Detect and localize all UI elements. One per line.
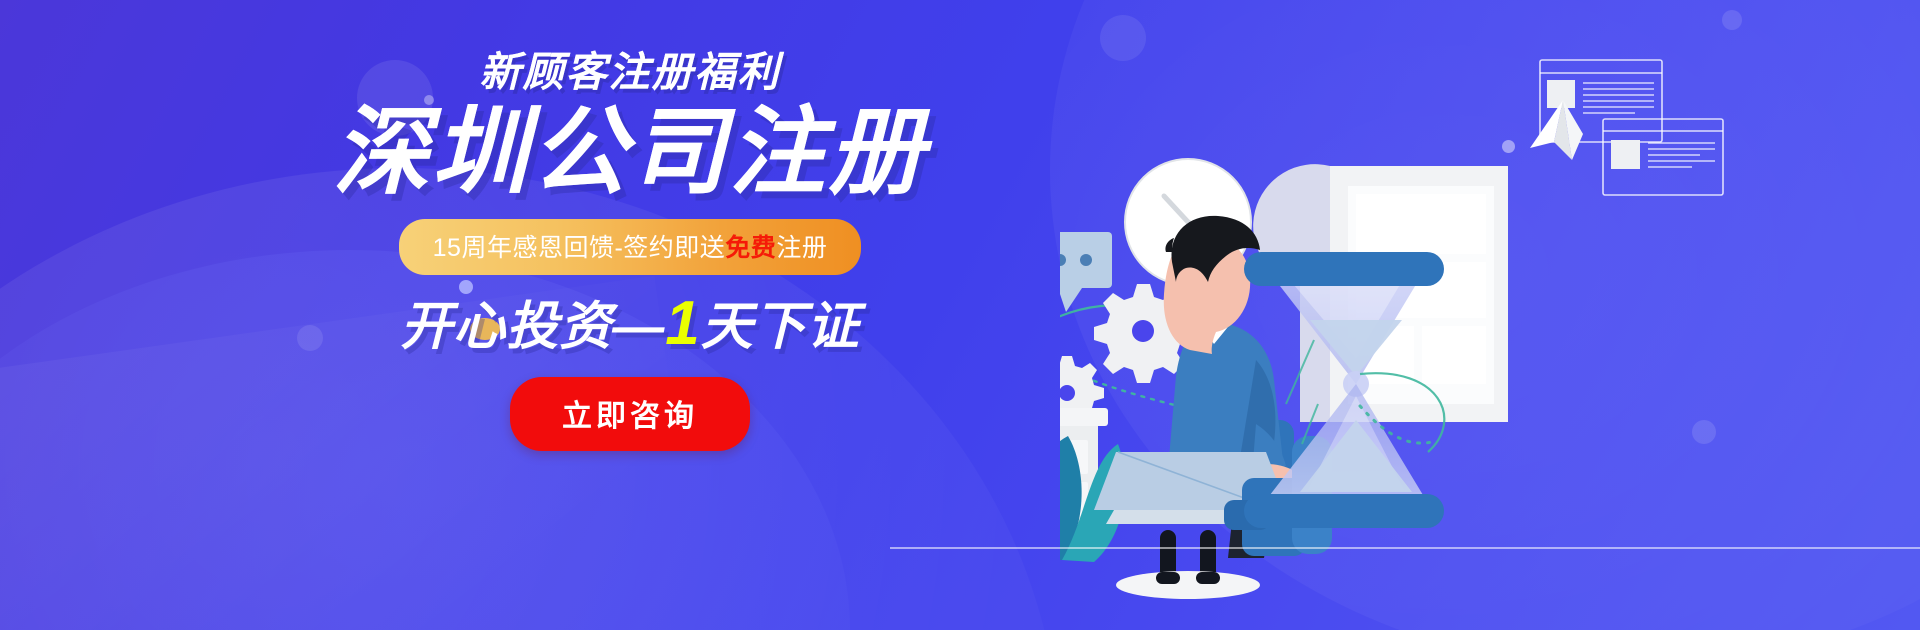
illustration [1060, 0, 1920, 630]
eyebrow-text: 新顾客注册福利 [300, 52, 960, 93]
page-title: 深圳公司注册 [300, 103, 960, 203]
document-thumb [1611, 140, 1640, 169]
promo-pill-prefix: 15周年感恩回馈-签约即送 [433, 234, 726, 262]
promo-banner: 新顾客注册福利 深圳公司注册 15周年感恩回馈-签约即送免费注册 开心投资—1天… [0, 0, 1920, 630]
tagline: 开心投资—1天下证 [300, 293, 960, 355]
copy-block: 新顾客注册福利 深圳公司注册 15周年感恩回馈-签约即送免费注册 开心投资—1天… [300, 52, 960, 451]
tagline-number: 1 [665, 289, 700, 358]
document-lines [1648, 143, 1715, 167]
paper-plane-icon [1530, 100, 1583, 160]
document-lines [1583, 83, 1654, 113]
tagline-prefix: 开心投资— [400, 298, 665, 356]
tagline-suffix: 天下证 [701, 298, 860, 356]
floor-line [890, 547, 1920, 549]
promo-pill-highlight: 免费 [725, 234, 776, 262]
chat-bubble-icon [1060, 232, 1112, 312]
promo-pill-suffix: 注册 [776, 234, 827, 262]
promo-pill: 15周年感恩回馈-签约即送免费注册 [399, 219, 862, 275]
consult-now-button[interactable]: 立即咨询 [510, 377, 750, 451]
